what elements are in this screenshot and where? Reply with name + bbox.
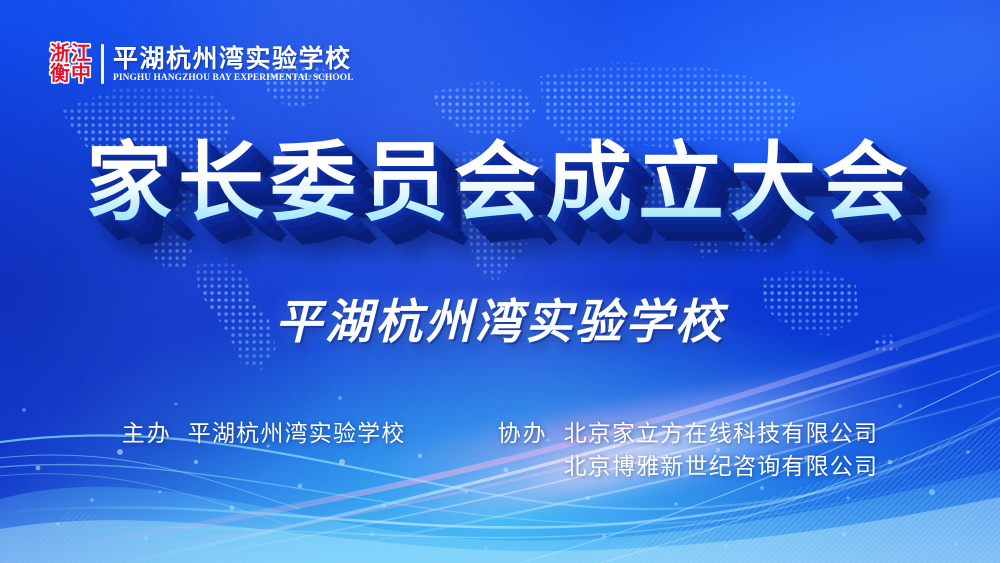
- logo-name-group: 平湖杭州湾实验学校 PINGHU HANGZHOU BAY EXPERIMENT…: [113, 46, 352, 82]
- cohost-organizations: 北京家立方在线科技有限公司 北京博雅新世纪咨询有限公司: [564, 418, 879, 483]
- main-title-container: 家长委员会成立大会: [0, 138, 1000, 228]
- host-label: 主办: [122, 418, 172, 451]
- subtitle: 平湖杭州湾实验学校: [275, 283, 725, 352]
- host-organization: 平湖杭州湾实验学校: [188, 418, 406, 451]
- school-logo: 浙江 衡中 平湖杭州湾实验学校 PINGHU HANGZHOU BAY EXPE…: [50, 44, 352, 84]
- seal-line-2: 衡中: [50, 64, 92, 84]
- host-credit-block: 主办 平湖杭州湾实验学校: [122, 418, 406, 451]
- main-title: 家长委员会成立大会: [86, 138, 914, 228]
- logo-school-name-cn: 平湖杭州湾实验学校: [113, 46, 352, 71]
- host-organizations: 平湖杭州湾实验学校: [188, 418, 406, 451]
- logo-divider: [101, 44, 104, 84]
- logo-school-name-en: PINGHU HANGZHOU BAY EXPERIMENTAL SCHOOL: [113, 73, 356, 82]
- zhejiang-hengzhong-seal-icon: 浙江 衡中: [50, 44, 92, 83]
- conference-backdrop-poster: 浙江 衡中 平湖杭州湾实验学校 PINGHU HANGZHOU BAY EXPE…: [0, 0, 1000, 563]
- credits-section: 主办 平湖杭州湾实验学校 协办 北京家立方在线科技有限公司 北京博雅新世纪咨询有…: [0, 418, 1000, 483]
- subtitle-container: 平湖杭州湾实验学校: [0, 283, 1000, 352]
- cohost-label: 协办: [498, 418, 548, 451]
- cohost-organization: 北京博雅新世纪咨询有限公司: [564, 451, 879, 484]
- cohost-credit-block: 协办 北京家立方在线科技有限公司 北京博雅新世纪咨询有限公司: [498, 418, 879, 483]
- cohost-organization: 北京家立方在线科技有限公司: [564, 418, 879, 451]
